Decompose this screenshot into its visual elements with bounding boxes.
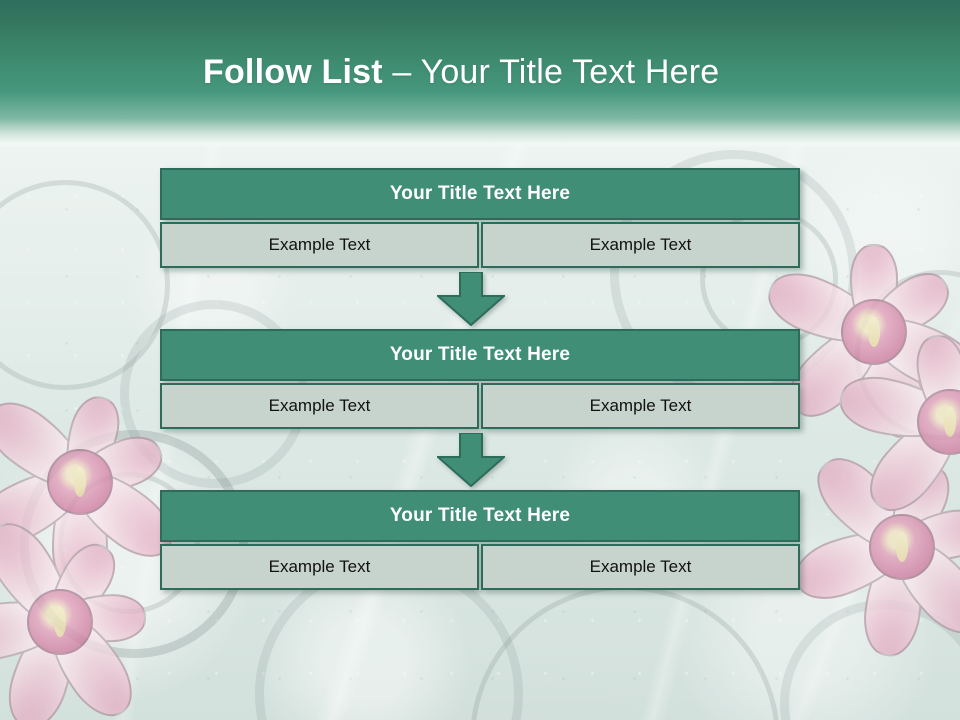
- block-3-title: Your Title Text Here: [160, 490, 800, 542]
- follow-list-block-2[interactable]: Your Title Text Here Example Text Exampl…: [160, 329, 800, 429]
- down-arrow-icon-1: [437, 272, 505, 326]
- block-1-cells: Example Text Example Text: [160, 222, 800, 268]
- down-arrow-icon-2: [437, 433, 505, 487]
- block-3-cell-left[interactable]: Example Text: [160, 544, 479, 590]
- follow-list-block-3[interactable]: Your Title Text Here Example Text Exampl…: [160, 490, 800, 590]
- block-1-cell-left[interactable]: Example Text: [160, 222, 479, 268]
- block-2-cells: Example Text Example Text: [160, 383, 800, 429]
- block-2-title: Your Title Text Here: [160, 329, 800, 381]
- block-3-cells: Example Text Example Text: [160, 544, 800, 590]
- block-2-cell-right[interactable]: Example Text: [481, 383, 800, 429]
- block-1-cell-right[interactable]: Example Text: [481, 222, 800, 268]
- follow-list-block-1[interactable]: Your Title Text Here Example Text Exampl…: [160, 168, 800, 268]
- block-1-title: Your Title Text Here: [160, 168, 800, 220]
- content-area: Your Title Text Here Example Text Exampl…: [0, 0, 960, 720]
- block-2-cell-left[interactable]: Example Text: [160, 383, 479, 429]
- block-3-cell-right[interactable]: Example Text: [481, 544, 800, 590]
- slide-canvas: Follow List – Your Title Text Here Your …: [0, 0, 960, 720]
